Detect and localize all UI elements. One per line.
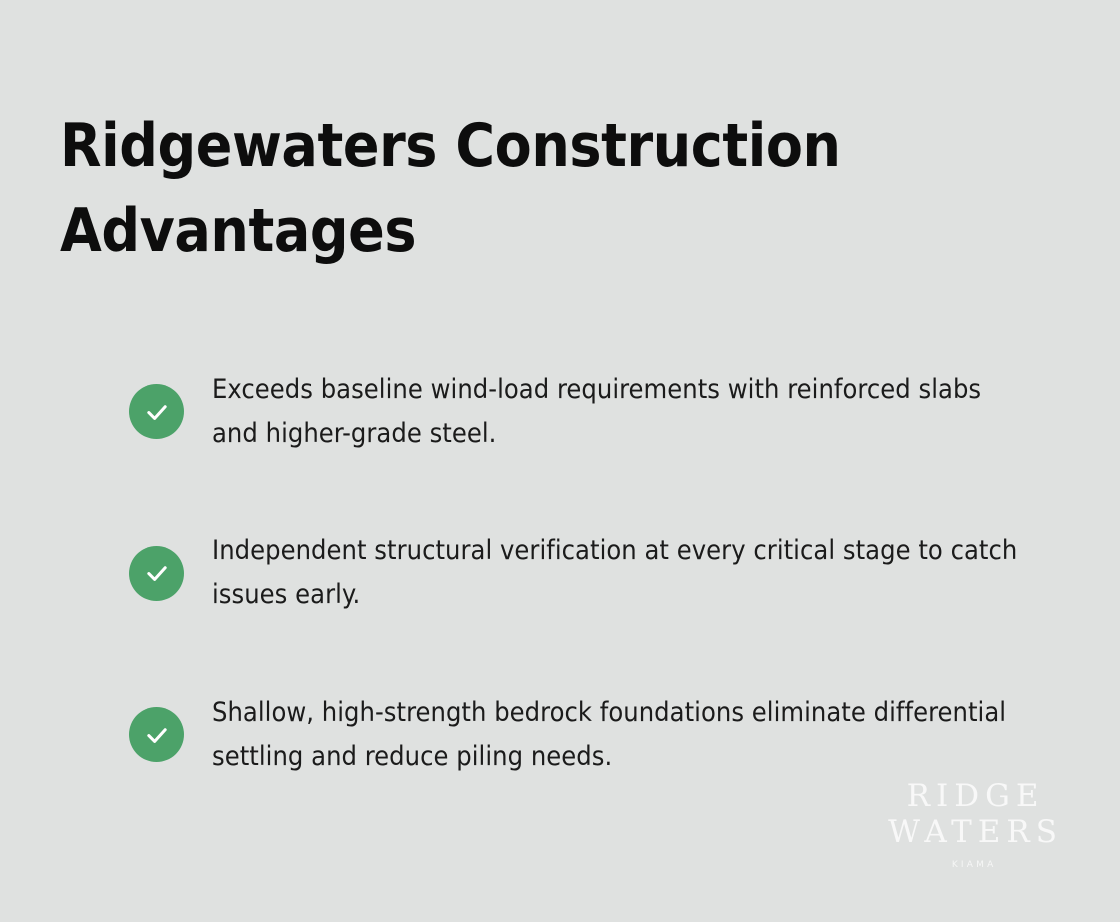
page-title: Ridgewaters Construction Advantages bbox=[60, 104, 940, 274]
list-item: Exceeds baseline wind-load requirements … bbox=[129, 368, 1049, 455]
logo-subtitle-kiama: KIAMA bbox=[882, 861, 1063, 870]
slide-canvas: Ridgewaters Construction Advantages Exce… bbox=[0, 0, 1120, 922]
list-item: Independent structural verification at e… bbox=[129, 529, 1049, 616]
list-item-text: Exceeds baseline wind-load requirements … bbox=[212, 368, 1027, 455]
list-item-text: Independent structural verification at e… bbox=[212, 529, 1027, 616]
check-circle-icon bbox=[129, 546, 184, 601]
brand-logo: RIDGE WATERS KIAMA bbox=[882, 781, 1063, 870]
title-block: Ridgewaters Construction Advantages bbox=[60, 104, 940, 274]
list-item: Shallow, high-strength bedrock foundatio… bbox=[129, 691, 1049, 778]
check-circle-icon bbox=[129, 384, 184, 439]
logo-line-ridge: RIDGE bbox=[882, 781, 1063, 812]
check-circle-icon bbox=[129, 707, 184, 762]
logo-line-waters: WATERS bbox=[882, 817, 1063, 848]
list-item-text: Shallow, high-strength bedrock foundatio… bbox=[212, 691, 1027, 778]
advantages-list: Exceeds baseline wind-load requirements … bbox=[129, 368, 1049, 778]
